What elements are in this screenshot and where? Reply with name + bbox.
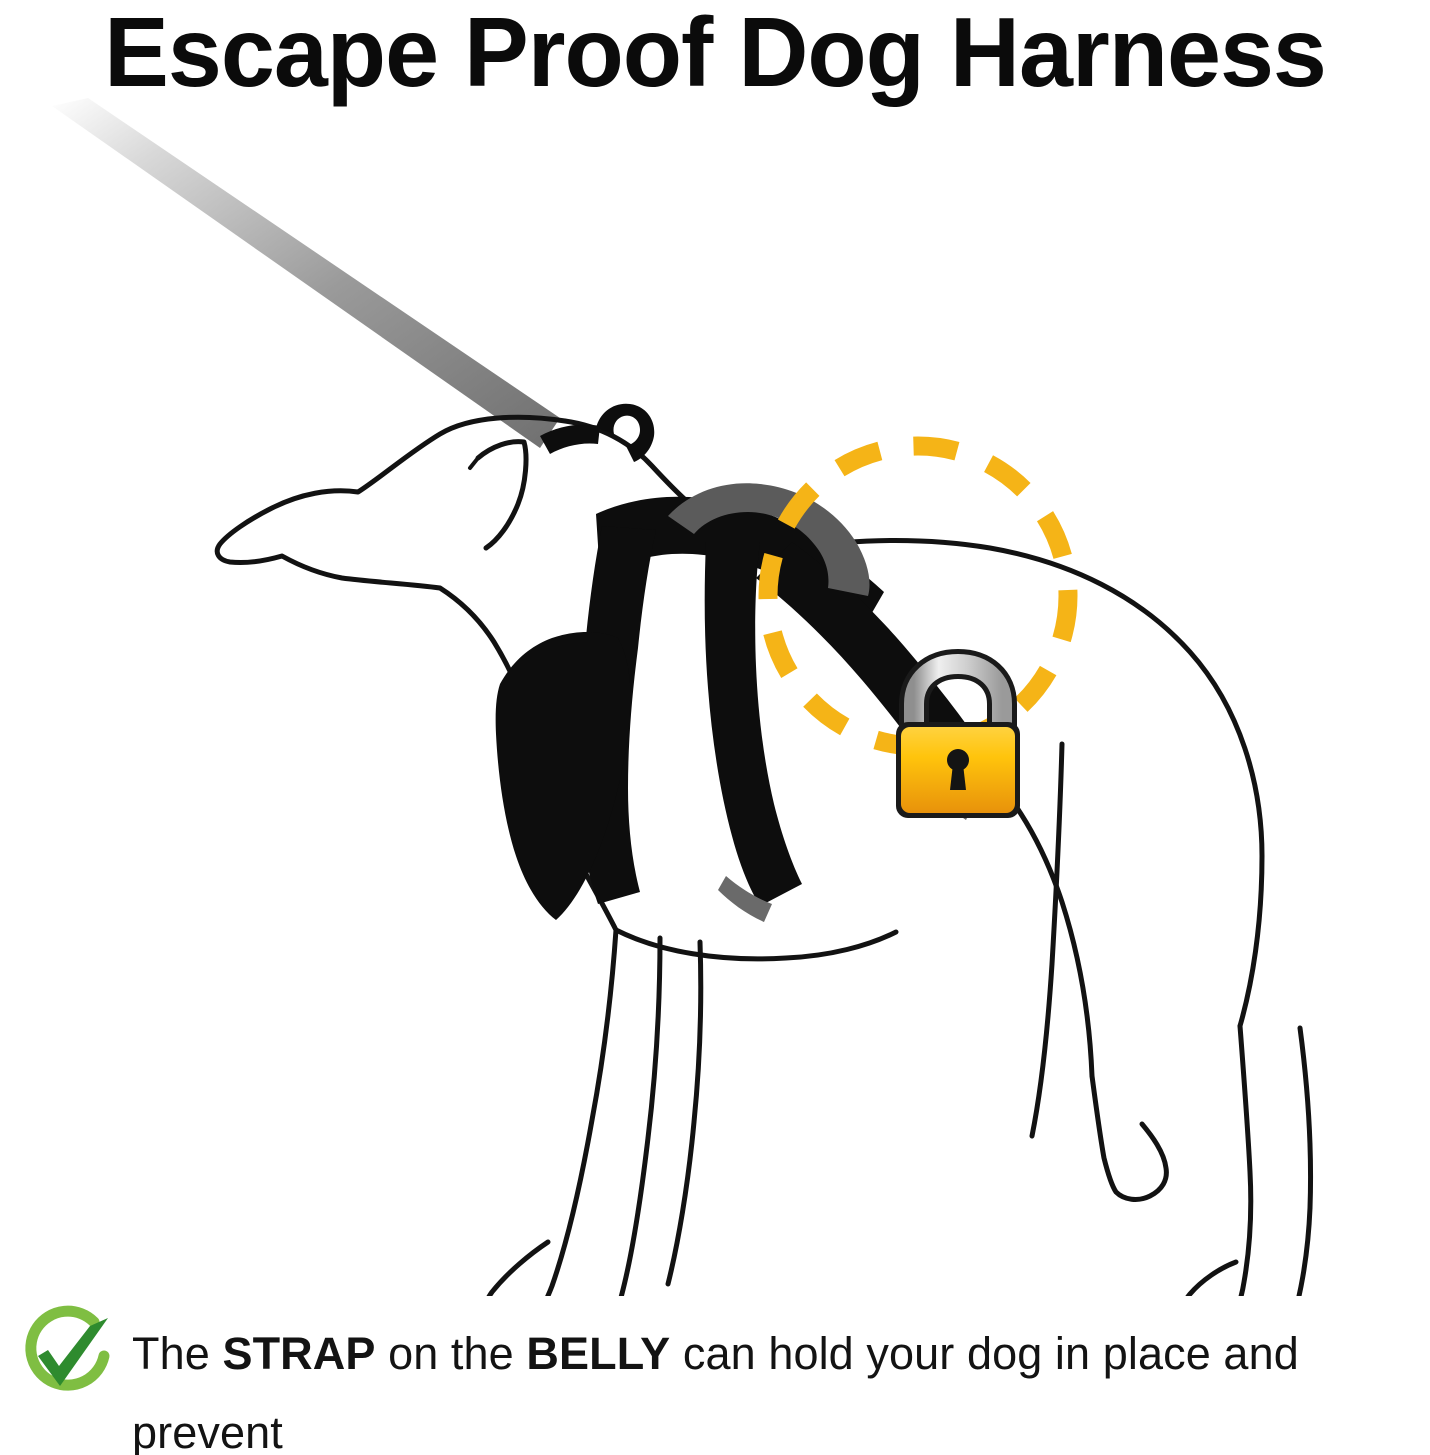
caption-l1-p2: on the [375, 1328, 526, 1379]
leash-strap [52, 98, 560, 448]
caption-text: The STRAP on the BELLY can hold your dog… [132, 1314, 1422, 1455]
caption-line-1: The STRAP on the BELLY can hold your dog… [132, 1314, 1422, 1455]
title-bar: Escape Proof Dog Harness [0, 0, 1430, 104]
page-title: Escape Proof Dog Harness [104, 2, 1326, 102]
caption-l1-bold-belly: BELLY [526, 1328, 670, 1379]
caption-l1-bold-strap: STRAP [222, 1328, 375, 1379]
padlock-icon [896, 664, 1020, 818]
dog-harness-illustration [0, 96, 1430, 1296]
caption-l1-p1: The [132, 1328, 222, 1379]
leash-attachment-d-ring [540, 404, 654, 462]
product-feature-image: Escape Proof Dog Harness [0, 0, 1430, 1455]
green-check-icon [16, 1304, 120, 1408]
caption-block: The STRAP on the BELLY can hold your dog… [0, 1300, 1430, 1455]
